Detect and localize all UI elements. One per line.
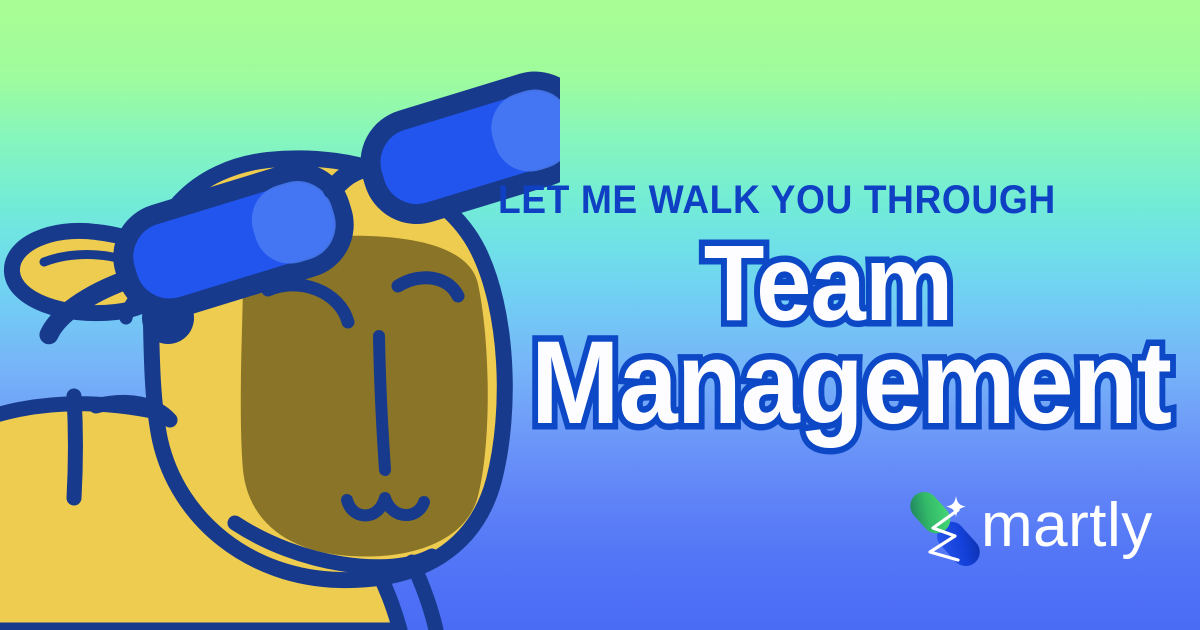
smartly-logo[interactable]: martly [903,486,1153,572]
eyebrow-text: LET ME WALK YOU THROUGH [498,180,1112,220]
mascot-neck-line [412,562,436,630]
smartly-s-mark [903,486,987,572]
headline: Team Management [498,232,1158,438]
mascot-nose-line [379,336,385,470]
social-banner: LET ME WALK YOU THROUGH Team Management [0,0,1200,630]
mascot-foreleg-line [74,396,76,498]
smartly-wordmark: martly [981,495,1153,557]
capybara-mascot [0,0,560,630]
headline-block: LET ME WALK YOU THROUGH Team Management [498,180,1158,438]
headline-line-2: Management [531,328,1125,439]
